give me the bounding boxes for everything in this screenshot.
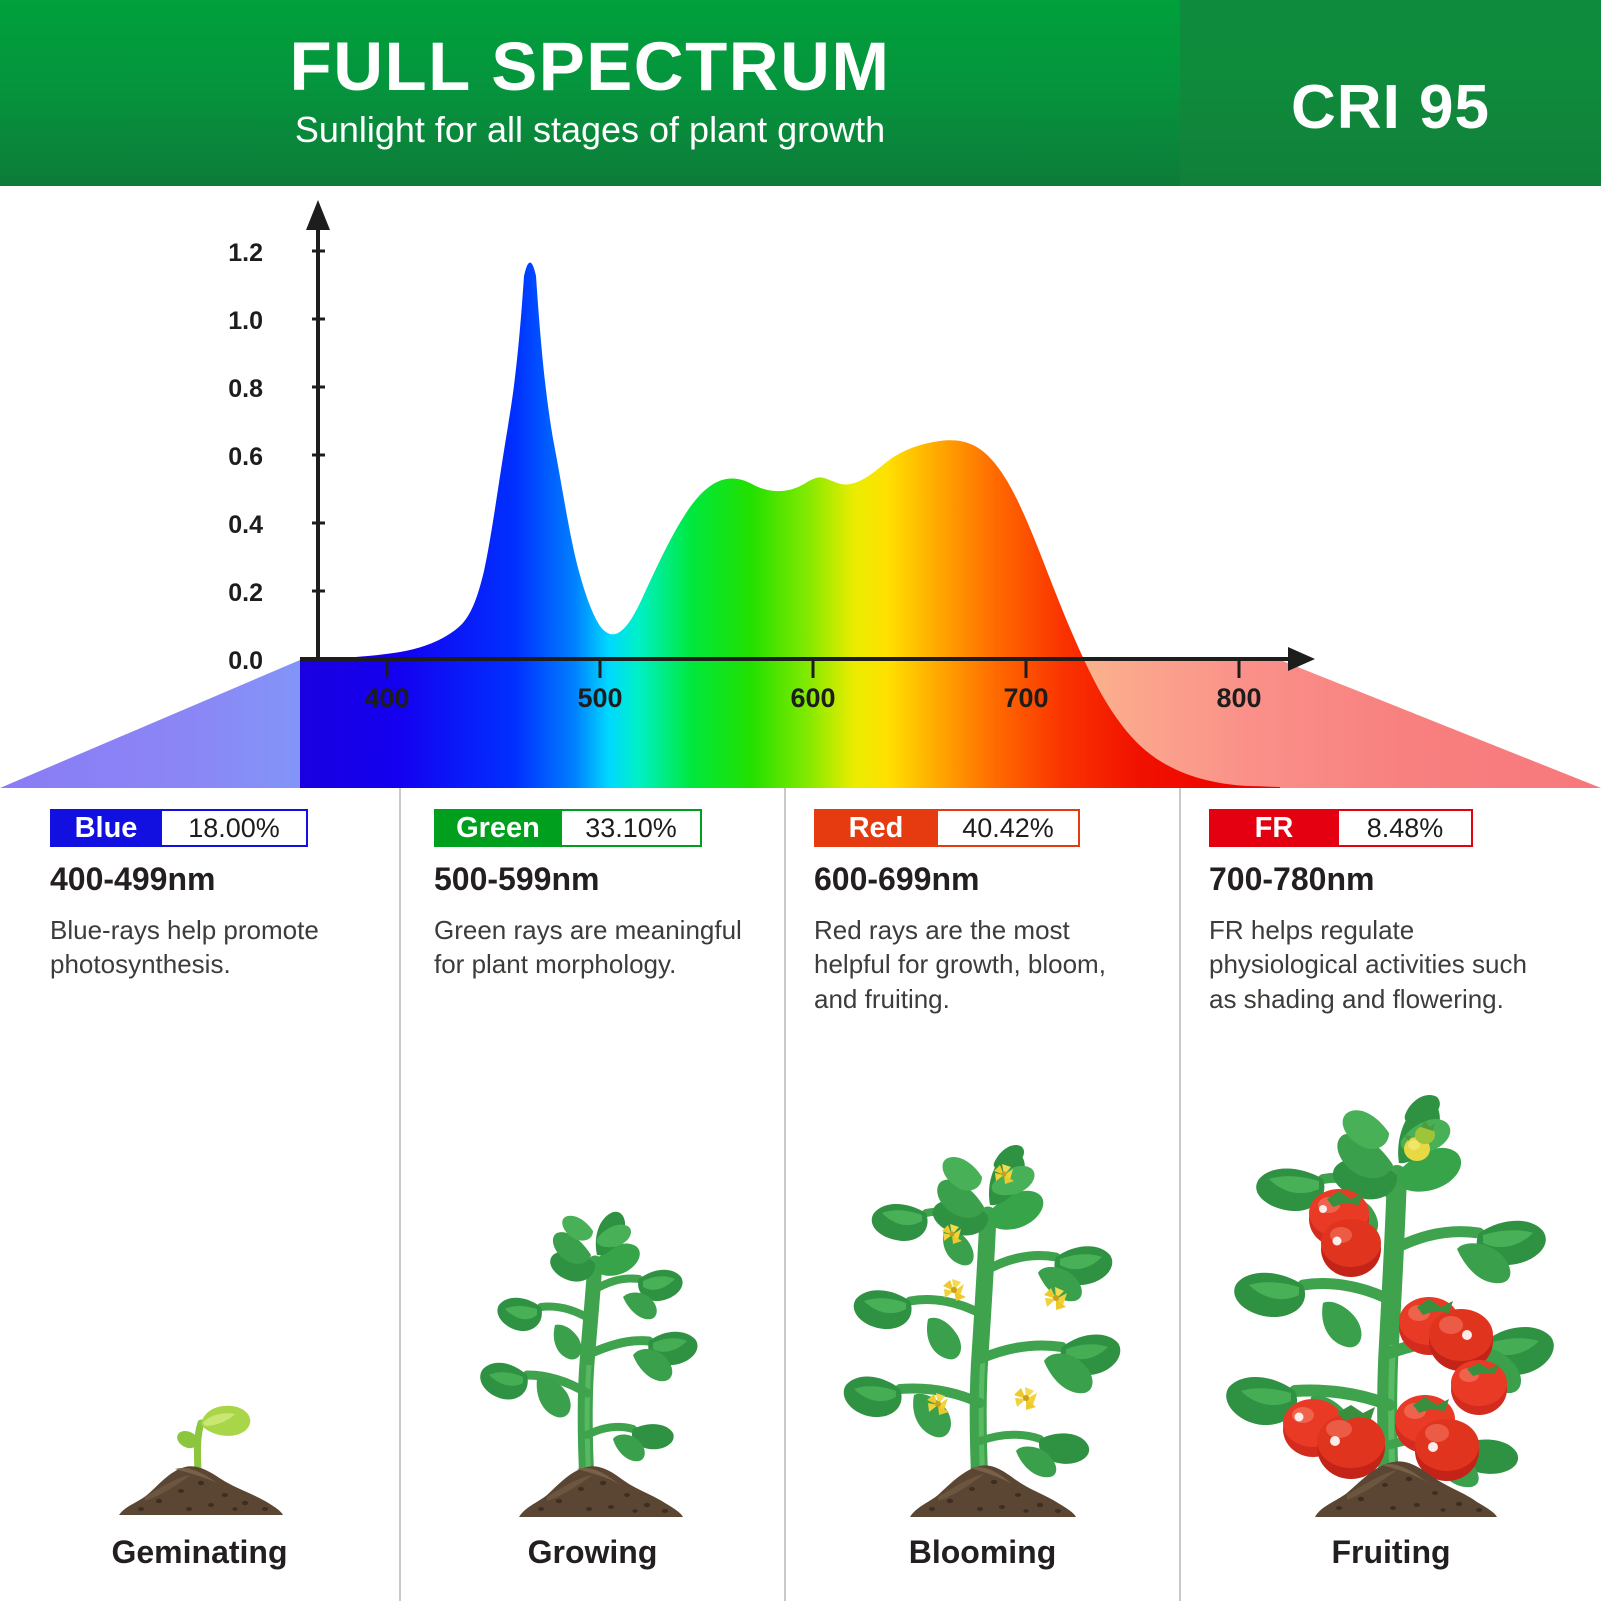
band-column-fr: FR 8.48% 700-780nm FR helps regulate phy… [1181, 788, 1601, 1601]
plant-illustration-fruiting [1181, 1053, 1601, 1523]
band-column-green: Green 33.10% 500-599nm Green rays are me… [401, 788, 784, 1601]
ytick-label: 0.0 [193, 647, 263, 676]
soil-mound-icon [119, 1466, 283, 1515]
band-description: Red rays are the most helpful for growth… [814, 913, 1114, 1016]
status-badge: Blue 18.00% [50, 809, 308, 847]
badge-label: Red [814, 809, 938, 847]
ytick-label: 1.0 [193, 307, 263, 336]
stage-label: Growing [401, 1534, 784, 1571]
band-range: 700-780nm [1209, 861, 1374, 898]
plant-illustration-geminating [0, 1343, 399, 1523]
status-badge: FR 8.48% [1209, 809, 1473, 847]
band-description: FR helps regulate physiological activiti… [1209, 913, 1529, 1016]
badge-label: Green [434, 809, 562, 847]
status-badge: Green 33.10% [434, 809, 702, 847]
badge-percent: 18.00% [162, 809, 308, 847]
band-range: 600-699nm [814, 861, 979, 898]
badge-label: FR [1209, 809, 1339, 847]
band-range: 500-599nm [434, 861, 599, 898]
status-badge: Red 40.42% [814, 809, 1080, 847]
plant-illustration-growing [401, 1143, 784, 1523]
band-description: Green rays are meaningful for plant morp… [434, 913, 754, 982]
ytick-label: 0.2 [193, 579, 263, 608]
plant-illustration-blooming [786, 1103, 1179, 1523]
sprout-icon [177, 1406, 250, 1471]
xtick-label: 600 [768, 683, 858, 714]
badge-label: Blue [50, 809, 162, 847]
cri-value: CRI 95 [1180, 72, 1601, 143]
badge-percent: 8.48% [1339, 809, 1473, 847]
band-columns: Blue 18.00% 400-499nm Blue-rays help pro… [0, 788, 1601, 1601]
band-range: 400-499nm [50, 861, 215, 898]
header-banner: FULL SPECTRUM Sunlight for all stages of… [0, 0, 1601, 186]
ytick-label: 0.8 [193, 375, 263, 404]
stage-label: Fruiting [1181, 1534, 1601, 1571]
badge-percent: 33.10% [562, 809, 702, 847]
page-subtitle: Sunlight for all stages of plant growth [0, 112, 1180, 148]
band-column-blue: Blue 18.00% 400-499nm Blue-rays help pro… [0, 788, 399, 1601]
stage-label: Geminating [0, 1534, 399, 1571]
stage-label: Blooming [786, 1534, 1179, 1571]
xtick-label: 700 [981, 683, 1071, 714]
young-tomato-plant-icon [480, 1212, 697, 1483]
ytick-label: 0.4 [193, 511, 263, 540]
xtick-label: 400 [342, 683, 432, 714]
ytick-label: 1.2 [193, 239, 263, 268]
page-title: FULL SPECTRUM [0, 32, 1180, 101]
xtick-label: 800 [1194, 683, 1284, 714]
badge-percent: 40.42% [938, 809, 1080, 847]
band-description: Blue-rays help promote photosynthesis. [50, 913, 365, 982]
fruiting-tomato-plant-icon [1226, 1095, 1554, 1489]
spectrum-chart: 0.0 0.2 0.4 0.6 0.8 1.0 1.2 400 500 600 … [0, 186, 1601, 788]
soil-mound-icon [519, 1466, 683, 1517]
band-column-red: Red 40.42% 600-699nm Red rays are the mo… [786, 788, 1179, 1601]
xtick-label: 500 [555, 683, 645, 714]
flowering-tomato-plant-icon [843, 1145, 1120, 1485]
ytick-label: 0.6 [193, 443, 263, 472]
